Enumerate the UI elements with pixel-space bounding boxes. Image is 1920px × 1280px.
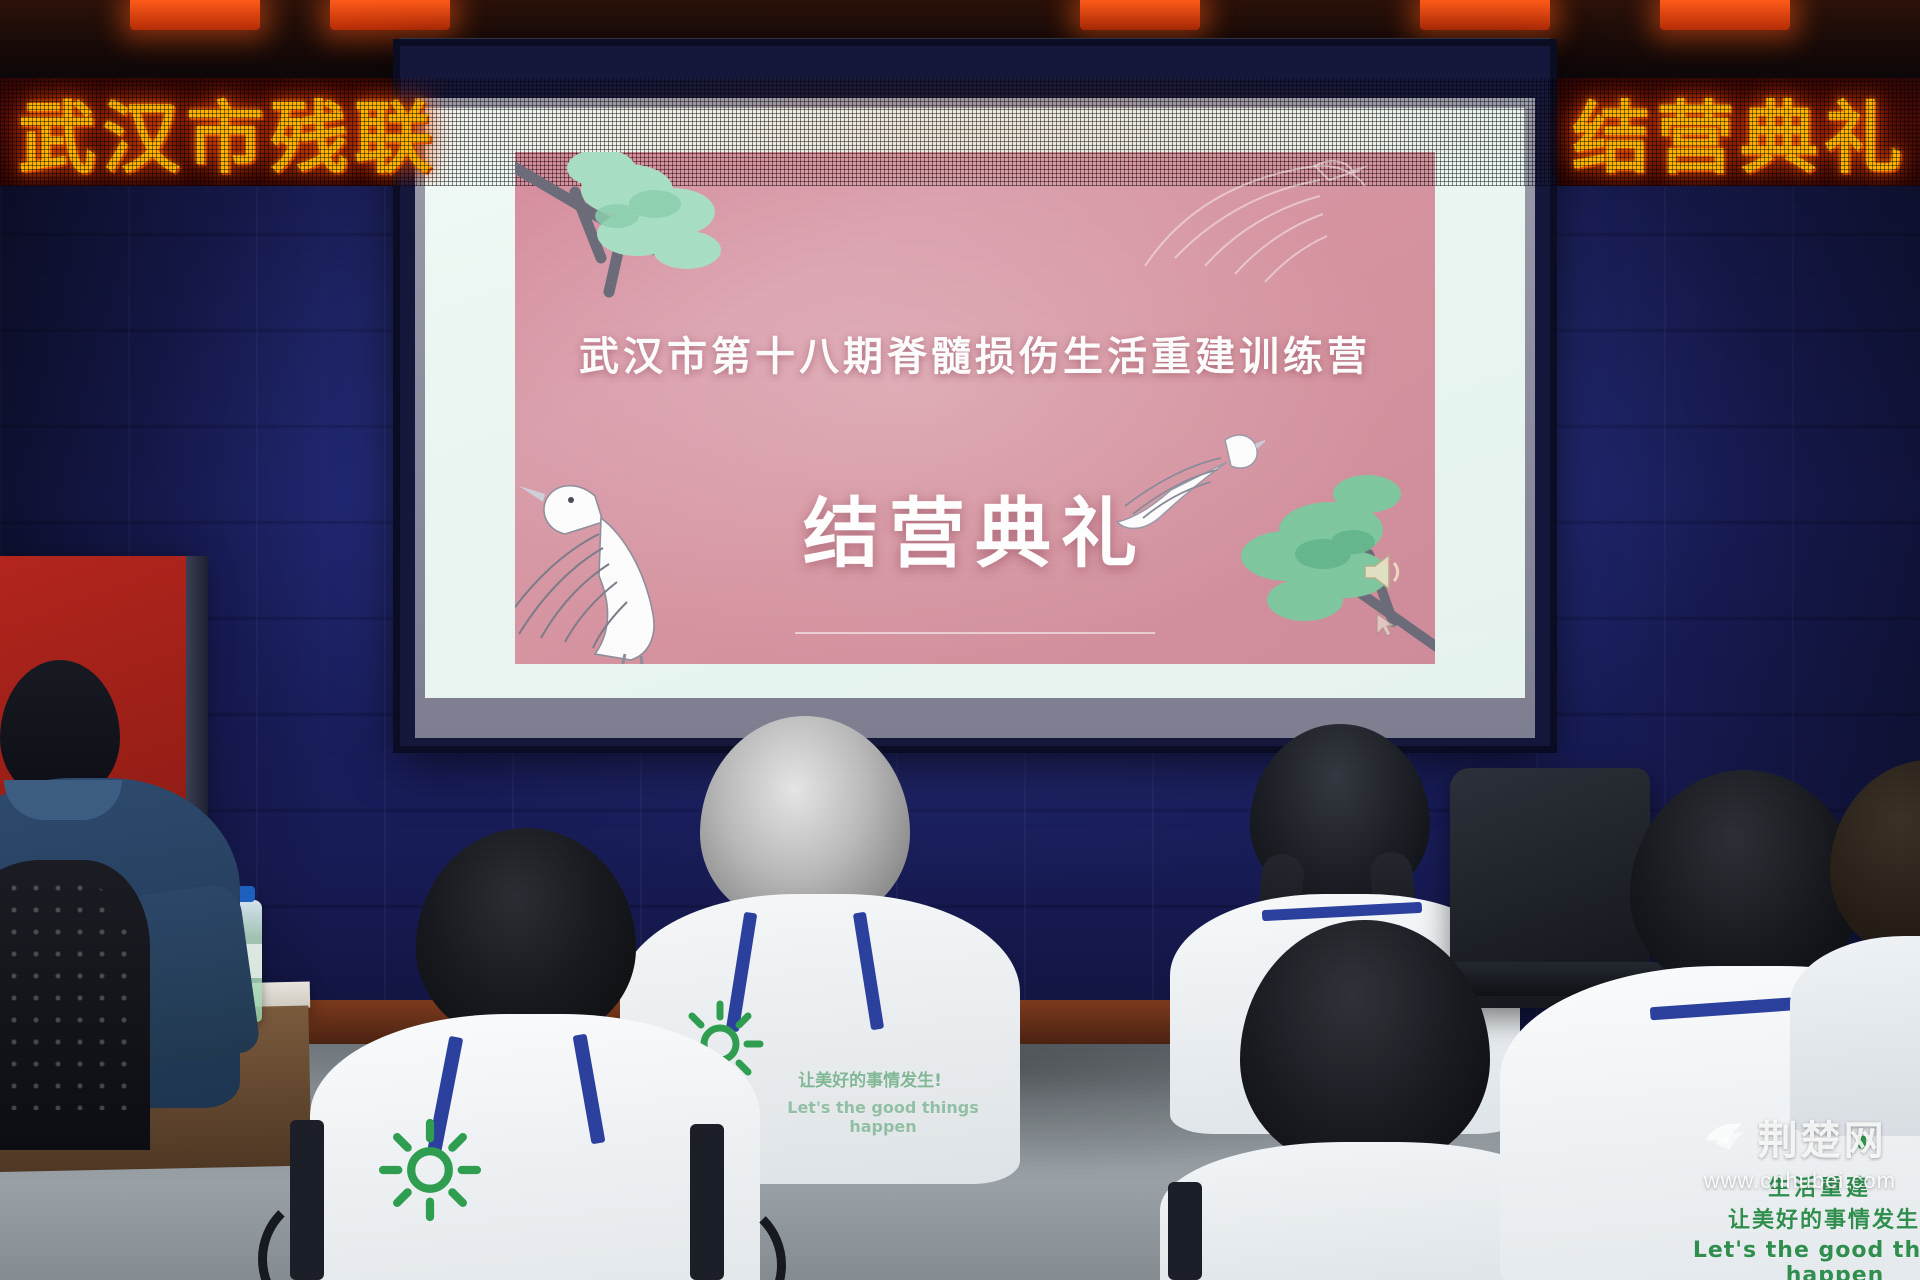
crane-top-right-icon (1115, 152, 1375, 306)
photo-scene: 武汉市残联 结营典礼 (0, 0, 1920, 1280)
cursor-icon[interactable] (1373, 612, 1399, 638)
ceiling-light-5 (1660, 0, 1790, 30)
tshirt-sunburst-logo (376, 1116, 484, 1224)
slide-divider (795, 632, 1155, 634)
ceiling-light-2 (330, 0, 450, 30)
head (416, 828, 636, 1043)
tshirt-text-cn-2: 让美好的事情发生! (1700, 1202, 1920, 1234)
lace-texture (0, 880, 130, 1110)
wheelchair-handle-center (1168, 1182, 1202, 1280)
slide-heading: 结营典礼 (515, 472, 1435, 582)
head (1830, 760, 1920, 960)
slide-card: 武汉市第十八期脊髓损伤生活重建训练营 结营典礼 (515, 152, 1435, 664)
tshirt-text-cn-1: 生活重建 (1720, 1170, 1920, 1202)
person-far-right (1830, 760, 1920, 1060)
ceiling-light-4 (1420, 0, 1550, 30)
head (1240, 920, 1490, 1170)
tshirt-text-cn-2: 让美好的事情发生! (750, 1066, 990, 1091)
led-banner-text-left: 武汉市残联 (18, 78, 438, 186)
tshirt-text-en: Let's the good things happen (1670, 1238, 1920, 1280)
slide-title: 武汉市第十八期脊髓损伤生活重建训练营 (515, 324, 1435, 382)
tshirt-text-en: Let's the good things happen (758, 1098, 1008, 1136)
led-banner-text-right: 结营典礼 (1572, 78, 1908, 186)
speaker-icon (1361, 550, 1407, 594)
ceiling-light-3 (1080, 0, 1200, 30)
torso (1790, 936, 1920, 1136)
led-banner: 武汉市残联 结营典礼 (0, 78, 1920, 186)
slide-canvas: 武汉市第十八期脊髓损伤生活重建训练营 结营典礼 (425, 108, 1525, 698)
ceiling-light-1 (130, 0, 260, 30)
person-far-left-front (0, 860, 150, 1160)
projection-screen: 武汉市第十八期脊髓损伤生活重建训练营 结营典礼 (415, 98, 1535, 738)
